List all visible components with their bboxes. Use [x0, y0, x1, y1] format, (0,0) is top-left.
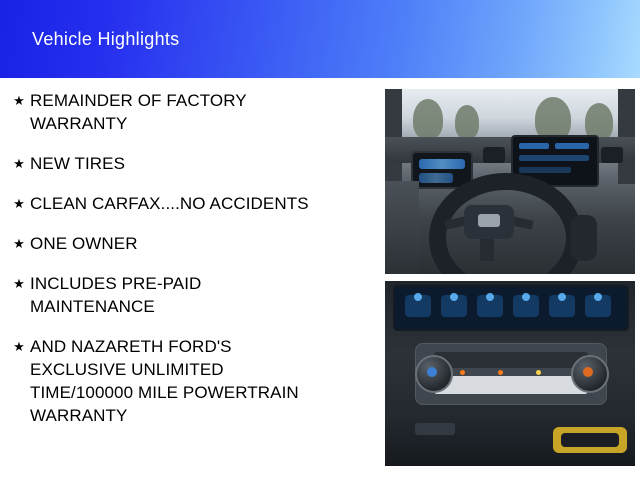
highlight-text: NEW TIRES	[30, 152, 125, 175]
screen-app-icon	[450, 293, 458, 301]
air-vent	[601, 147, 623, 163]
star-bullet-icon: ★	[8, 89, 30, 112]
climate-button-row	[434, 352, 588, 368]
temperature-knob-left	[415, 355, 453, 393]
usb-port-area	[415, 423, 455, 435]
star-bullet-icon: ★	[8, 272, 30, 295]
indicator-led	[536, 370, 541, 375]
knob-indicator	[583, 367, 593, 377]
gear-shifter	[571, 215, 597, 261]
indicator-led	[460, 370, 465, 375]
page-content: ★ REMAINDER OF FACTORY WARRANTY ★ NEW TI…	[0, 81, 640, 480]
grab-handle-inner	[561, 433, 619, 447]
highlight-text: REMAINDER OF FACTORY WARRANTY	[30, 89, 247, 135]
air-vent	[483, 147, 505, 163]
screen-app-icon	[594, 293, 602, 301]
door-panel	[385, 181, 419, 274]
tree-shape	[413, 99, 443, 139]
vehicle-highlights-page: Vehicle Highlights ★ REMAINDER OF FACTOR…	[0, 0, 640, 480]
screen-tile	[555, 143, 589, 149]
center-console-climate-controls-photo	[385, 281, 635, 466]
list-item: ★ ONE OWNER	[8, 232, 376, 255]
interior-dashboard-steering-wheel-photo	[385, 89, 635, 274]
page-header: Vehicle Highlights	[0, 0, 640, 78]
screen-app-icon	[558, 293, 566, 301]
knob-indicator	[427, 367, 437, 377]
list-item: ★ REMAINDER OF FACTORY WARRANTY	[8, 89, 376, 135]
screen-app-icon	[414, 293, 422, 301]
brand-badge	[478, 214, 500, 227]
photo-content	[385, 89, 635, 274]
screen-tile	[519, 155, 589, 161]
list-item: ★ AND NAZARETH FORD'S EXCLUSIVE UNLIMITE…	[8, 335, 376, 427]
star-bullet-icon: ★	[8, 232, 30, 255]
star-bullet-icon: ★	[8, 335, 30, 358]
screen-app-icon	[522, 293, 530, 301]
star-bullet-icon: ★	[8, 152, 30, 175]
highlight-text: AND NAZARETH FORD'S EXCLUSIVE UNLIMITED …	[30, 335, 299, 427]
screen-app-icon	[486, 293, 494, 301]
list-item: ★ NEW TIRES	[8, 152, 376, 175]
highlight-text: ONE OWNER	[30, 232, 138, 255]
highlight-text: CLEAN CARFAX....NO ACCIDENTS	[30, 192, 309, 215]
list-item: ★ INCLUDES PRE-PAID MAINTENANCE	[8, 272, 376, 318]
screen-tile	[519, 167, 571, 173]
page-title: Vehicle Highlights	[32, 29, 179, 50]
infotainment-screen	[393, 285, 629, 331]
star-bullet-icon: ★	[8, 192, 30, 215]
indicator-led	[498, 370, 503, 375]
photo-content	[385, 281, 635, 466]
climate-button-row	[434, 376, 588, 394]
temperature-knob-right	[571, 355, 609, 393]
highlights-list: ★ REMAINDER OF FACTORY WARRANTY ★ NEW TI…	[8, 89, 376, 444]
list-item: ★ CLEAN CARFAX....NO ACCIDENTS	[8, 192, 376, 215]
cluster-readout	[419, 173, 453, 183]
highlight-text: INCLUDES PRE-PAID MAINTENANCE	[30, 272, 201, 318]
tree-shape	[455, 105, 479, 139]
cluster-readout	[419, 159, 465, 169]
screen-tile	[519, 143, 549, 149]
